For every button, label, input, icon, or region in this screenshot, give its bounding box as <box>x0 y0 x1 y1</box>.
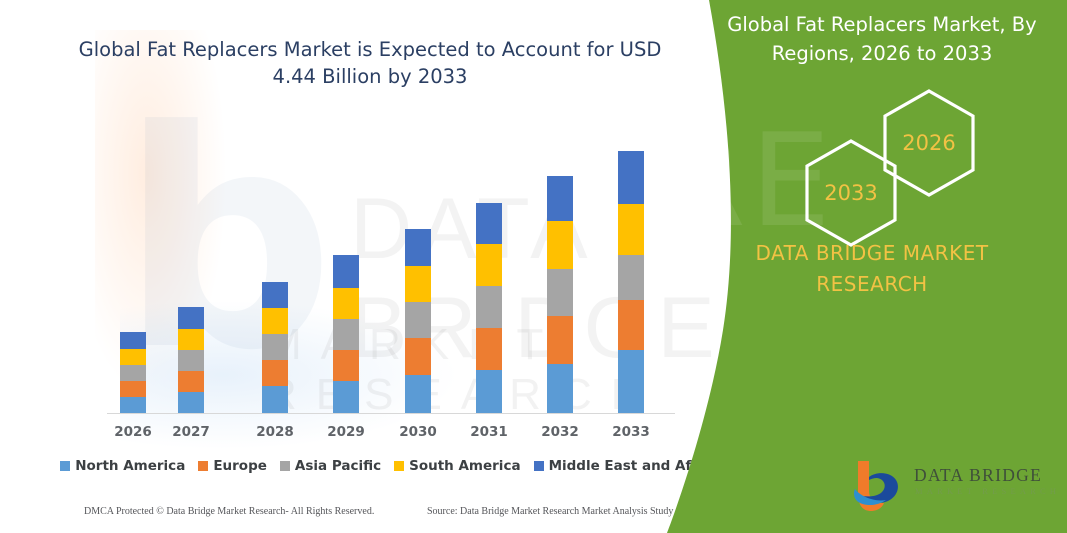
bar-2026 <box>120 332 146 413</box>
segment-north-america-2028 <box>262 386 288 413</box>
segment-middle-east-and-africa-2029 <box>333 255 359 288</box>
legend-item-north-america[interactable]: North America <box>60 458 185 474</box>
segment-middle-east-and-africa-2028 <box>262 282 288 308</box>
x-axis-line <box>107 413 675 414</box>
segment-middle-east-and-africa-2027 <box>178 307 204 329</box>
bar-2031 <box>476 203 502 413</box>
x-label-2033: 2033 <box>601 424 661 440</box>
logo-subtitle: MARKET RESEARCH <box>915 486 1060 496</box>
data-bridge-logo: DATA BRIDGE MARKET RESEARCH <box>852 455 1052 515</box>
segment-south-america-2030 <box>405 266 431 302</box>
hexagon-2033-label: 2033 <box>824 181 877 205</box>
segment-europe-2028 <box>262 360 288 386</box>
bar-2027 <box>178 307 204 413</box>
bar-2033 <box>618 151 644 413</box>
x-label-2027: 2027 <box>161 424 221 440</box>
segment-asia-pacific-2029 <box>333 319 359 350</box>
legend-label: Asia Pacific <box>295 458 381 474</box>
bar-2029 <box>333 255 359 413</box>
segment-europe-2031 <box>476 328 502 370</box>
legend-swatch-icon <box>198 461 208 471</box>
segment-north-america-2029 <box>333 381 359 413</box>
x-label-2029: 2029 <box>316 424 376 440</box>
segment-south-america-2033 <box>618 204 644 255</box>
x-axis-labels: 20262027202820292030203120322033 <box>107 424 675 446</box>
segment-middle-east-and-africa-2030 <box>405 229 431 266</box>
segment-middle-east-and-africa-2031 <box>476 203 502 244</box>
legend-swatch-icon <box>280 461 290 471</box>
segment-south-america-2026 <box>120 349 146 365</box>
logo-b-mark-icon <box>852 459 908 511</box>
segment-south-america-2031 <box>476 244 502 286</box>
chart-panel: b DATA BRIDGE MARKET RESEARCH Global Fat… <box>0 0 760 533</box>
segment-middle-east-and-africa-2026 <box>120 332 146 349</box>
segment-south-america-2027 <box>178 329 204 350</box>
segment-north-america-2031 <box>476 370 502 413</box>
legend-item-asia-pacific[interactable]: Asia Pacific <box>280 458 381 474</box>
segment-asia-pacific-2026 <box>120 365 146 381</box>
green-side-panel: RE Global Fat Replacers Market, By Regio… <box>667 0 1067 533</box>
segment-europe-2026 <box>120 381 146 397</box>
segment-south-america-2032 <box>547 221 573 269</box>
footer-source: Source: Data Bridge Market Research Mark… <box>427 506 696 517</box>
bar-2030 <box>405 229 431 413</box>
x-label-2032: 2032 <box>530 424 590 440</box>
legend-label: Europe <box>213 458 267 474</box>
segment-north-america-2032 <box>547 364 573 413</box>
segment-asia-pacific-2027 <box>178 350 204 371</box>
segment-europe-2029 <box>333 350 359 381</box>
segment-europe-2027 <box>178 371 204 392</box>
stacked-bar-chart: 20262027202820292030203120322033 <box>0 0 760 533</box>
segment-north-america-2033 <box>618 350 644 413</box>
logo-text: DATA BRIDGE <box>914 465 1042 486</box>
legend-item-europe[interactable]: Europe <box>198 458 267 474</box>
footer: DMCA Protected © Data Bridge Market Rese… <box>0 506 700 526</box>
x-label-2030: 2030 <box>388 424 448 440</box>
legend-label: South America <box>409 458 520 474</box>
segment-europe-2033 <box>618 300 644 350</box>
legend-item-south-america[interactable]: South America <box>394 458 520 474</box>
chart-legend: North AmericaEuropeAsia PacificSouth Ame… <box>100 455 680 477</box>
green-panel-title: Global Fat Replacers Market, By Regions,… <box>722 10 1042 68</box>
legend-swatch-icon <box>394 461 404 471</box>
bar-2028 <box>262 282 288 413</box>
segment-middle-east-and-africa-2032 <box>547 176 573 221</box>
brand-name: DATA BRIDGE MARKET RESEARCH <box>707 238 1037 300</box>
segment-middle-east-and-africa-2033 <box>618 151 644 204</box>
segment-asia-pacific-2033 <box>618 255 644 300</box>
segment-europe-2032 <box>547 316 573 364</box>
legend-swatch-icon <box>534 461 544 471</box>
segment-north-america-2026 <box>120 397 146 413</box>
segment-asia-pacific-2032 <box>547 269 573 316</box>
legend-label: North America <box>75 458 185 474</box>
bar-2032 <box>547 176 573 413</box>
hexagon-2026: 2026 <box>879 87 979 199</box>
x-label-2026: 2026 <box>103 424 163 440</box>
x-label-2028: 2028 <box>245 424 305 440</box>
legend-swatch-icon <box>60 461 70 471</box>
segment-south-america-2029 <box>333 288 359 319</box>
hexagon-2026-label: 2026 <box>902 131 955 155</box>
segment-asia-pacific-2028 <box>262 334 288 360</box>
footer-copyright: DMCA Protected © Data Bridge Market Rese… <box>84 506 374 517</box>
segment-north-america-2027 <box>178 392 204 413</box>
segment-asia-pacific-2030 <box>405 302 431 338</box>
x-label-2031: 2031 <box>459 424 519 440</box>
segment-asia-pacific-2031 <box>476 286 502 328</box>
segment-north-america-2030 <box>405 375 431 413</box>
segment-south-america-2028 <box>262 308 288 334</box>
segment-europe-2030 <box>405 338 431 375</box>
